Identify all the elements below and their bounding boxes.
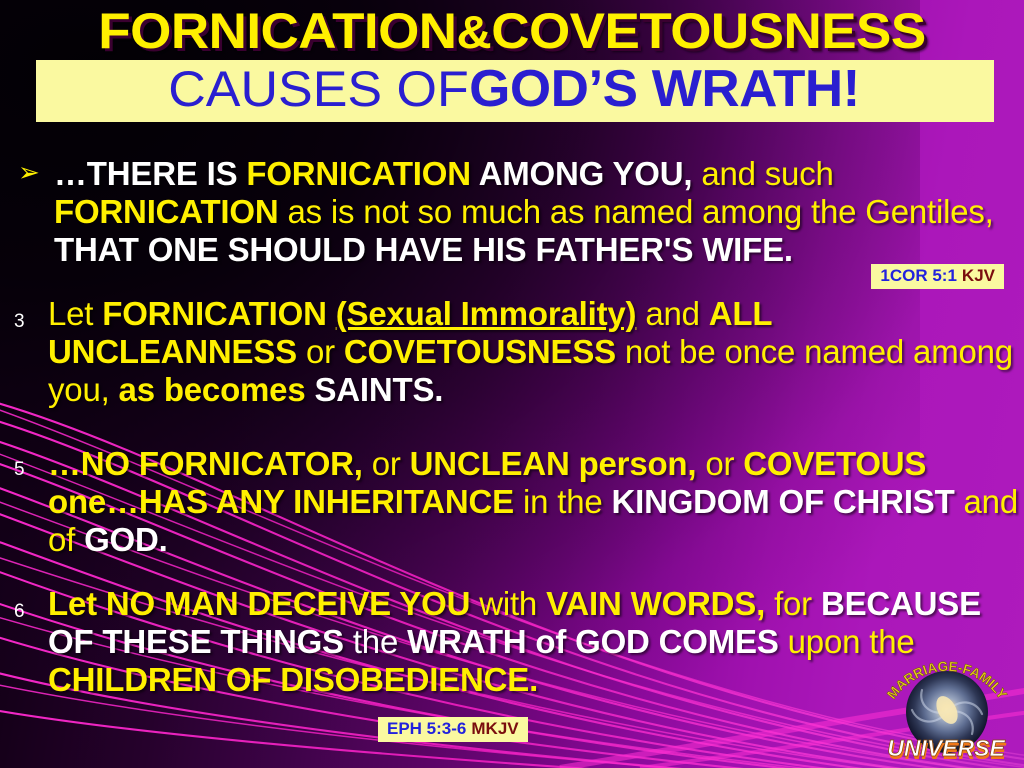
verse-6-run-7: WRATH	[407, 623, 535, 660]
citation-reference: EPH 5:3-6	[387, 719, 466, 738]
verse-3-run-0: Let	[48, 295, 102, 332]
verse-5-text: …NO FORNICATOR, or UNCLEAN person, or CO…	[48, 445, 1018, 559]
citation-reference: 1COR 5:1	[880, 266, 957, 285]
verse-1-run-2: AMONG YOU,	[479, 155, 702, 192]
citation-version: MKJV	[471, 719, 518, 738]
verse-5-run-2: UNCLEAN person,	[410, 445, 706, 482]
verse-5-run-5: in the	[523, 483, 612, 520]
verse-1-run-5: as is not so much as named among the Gen…	[287, 193, 993, 230]
verse-6-run-6: the	[353, 623, 407, 660]
citation-badge-1cor: 1COR 5:1KJV	[871, 264, 1004, 289]
verse-1-run-6: THAT ONE SHOULD HAVE HIS FATHER'S WIFE.	[54, 231, 793, 268]
verse-block-5: 5 …NO FORNICATOR, or UNCLEAN person, or …	[10, 445, 1018, 559]
verse-5-run-1: or	[372, 445, 410, 482]
citation-badge-eph: EPH 5:3-6MKJV	[378, 717, 528, 742]
citation-version: KJV	[962, 266, 995, 285]
verse-1-run-1: FORNICATION	[246, 155, 478, 192]
verse-3-run-8: as becomes	[119, 371, 315, 408]
verse-5-run-8: GOD.	[84, 521, 168, 558]
verse-3-run-6: COVETOUSNESS	[344, 333, 625, 370]
logo-word-universe: UNIVERSE	[887, 735, 1005, 761]
verse-6-run-0: Let	[48, 585, 106, 622]
slide-canvas: FORNICATION&COVETOUSNESS CAUSES OFGOD’S …	[0, 0, 1024, 768]
marriage-family-universe-logo: MARRIAGE-FAMILY UNIVERSE UNIVERSE	[872, 652, 1022, 768]
verse-5-run-6: KINGDOM OF CHRIST	[611, 483, 963, 520]
verse-3-run-3: and	[636, 295, 708, 332]
verse-5-run-0: …NO FORNICATOR,	[48, 445, 372, 482]
verse-number-3: 3	[14, 311, 25, 333]
verse-3-run-5: or	[306, 333, 344, 370]
bullet-arrow-icon: ➢	[18, 159, 40, 185]
verse-6-run-8: of GOD COMES	[535, 623, 787, 660]
verse-3-run-2: (Sexual Immorality)	[336, 295, 637, 332]
verse-1-run-3: and such	[701, 155, 833, 192]
title-word-covetousness: COVETOUSNESS	[491, 3, 925, 59]
verse-3-text: Let FORNICATION (Sexual Immorality) and …	[48, 295, 1018, 409]
verse-1-text: …THERE IS FORNICATION AMONG YOU, and suc…	[54, 155, 1018, 269]
verse-number-6: 6	[14, 601, 25, 623]
title-causes-of: CAUSES OF	[168, 58, 469, 120]
verse-block-6: 6 Let NO MAN DECEIVE YOU with VAIN WORDS…	[10, 585, 1018, 699]
verse-1-run-0: …THERE IS	[54, 155, 246, 192]
verse-3-run-9: SAINTS.	[314, 371, 443, 408]
verse-6-run-1: NO MAN DECEIVE YOU	[106, 585, 479, 622]
verse-3-run-1: FORNICATION	[102, 295, 335, 332]
verse-6-run-3: VAIN WORDS,	[546, 585, 774, 622]
verse-5-run-3: or	[705, 445, 743, 482]
title-word-fornication: FORNICATION	[98, 3, 456, 59]
title-ampersand: &	[457, 6, 492, 58]
title-line-1: FORNICATION&COVETOUSNESS	[0, 4, 1024, 59]
verse-block-1cor-5-1: ➢ …THERE IS FORNICATION AMONG YOU, and s…	[18, 155, 1018, 269]
verse-1-run-4: FORNICATION	[54, 193, 287, 230]
title-line-2: CAUSES OFGOD’S WRATH!	[36, 58, 994, 122]
verse-6-run-10: CHILDREN OF DISOBEDIENCE.	[48, 661, 538, 698]
verse-6-run-4: for	[774, 585, 821, 622]
title-gods-wrath: GOD’S WRATH!	[469, 58, 860, 120]
verse-block-3: 3 Let FORNICATION (Sexual Immorality) an…	[10, 295, 1018, 409]
verse-6-run-2: with	[479, 585, 546, 622]
verse-number-5: 5	[14, 459, 25, 481]
